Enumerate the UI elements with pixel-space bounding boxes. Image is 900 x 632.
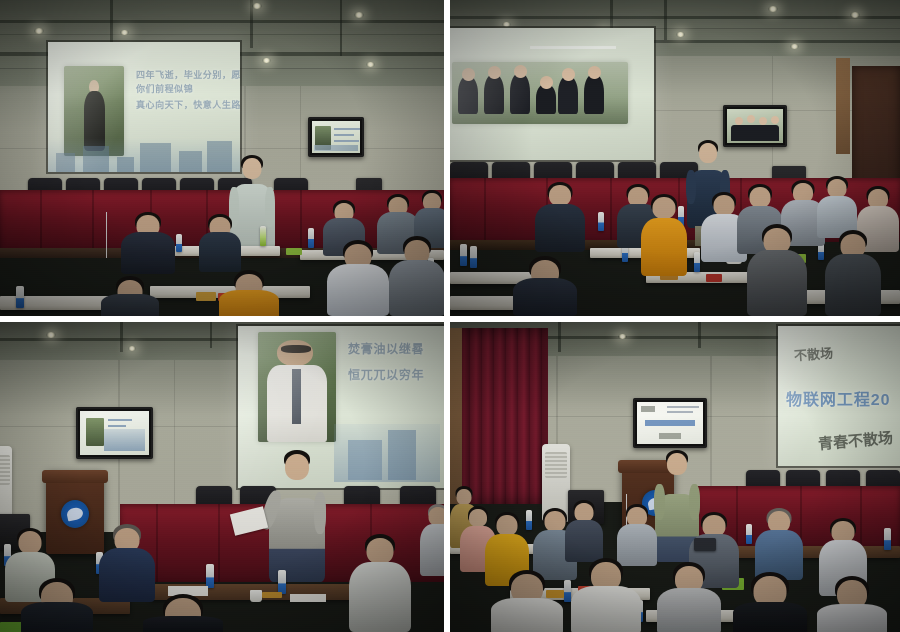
audience-member (534, 182, 586, 252)
slide-group-photo (452, 62, 628, 124)
ceiling-light (618, 334, 627, 339)
ceiling-light (850, 12, 860, 18)
panel-bottom-right: 不散场 物联网工程20 青春不散场 (450, 322, 900, 632)
document-sheet (290, 594, 326, 602)
water-bottle (278, 570, 286, 594)
ceiling-light (366, 62, 375, 67)
slide-skyline (48, 138, 240, 172)
ceiling-light (676, 32, 685, 37)
ceiling-light (790, 44, 799, 49)
slide-calligraphy-top: 不散场 (793, 343, 833, 365)
audience-member (816, 576, 888, 632)
ceiling-light (46, 332, 56, 338)
photo-collage: 四年飞逝，毕业分别，愿 你们前程似锦 真心向天下，快意人生路 (0, 0, 900, 632)
audience-member (198, 214, 242, 272)
slide-line-1: 焚膏油以继晷 (348, 340, 424, 357)
water-bottle (308, 228, 314, 248)
audience-member (616, 504, 658, 566)
audience-member (218, 270, 280, 316)
slide-headline: 物联网工程20 (786, 386, 891, 410)
water-bottle (260, 226, 266, 246)
snack-item (706, 274, 722, 282)
ceiling-light (354, 12, 364, 18)
audience-member (120, 212, 176, 274)
snack-item (196, 292, 216, 301)
slide-portrait (258, 332, 336, 442)
audience-member (656, 562, 722, 632)
projection-screen: 四年飞逝，毕业分别，愿 你们前程似锦 真心向天下，快意人生路 (48, 42, 240, 172)
snack-item (286, 248, 302, 255)
water-bottle (470, 246, 477, 268)
snack-item (0, 622, 22, 632)
wood-wall-panel (836, 58, 850, 154)
audience-member (326, 240, 390, 316)
water-bottle (176, 234, 182, 252)
ceiling-light (502, 22, 511, 27)
ceiling-light (34, 28, 44, 34)
ceiling-light (120, 30, 129, 35)
audience-member (564, 500, 604, 562)
audience-member (100, 276, 160, 316)
water-bottle (16, 286, 24, 308)
slide-photo (64, 66, 124, 156)
ceiling-light (128, 346, 136, 351)
audience-member (732, 572, 808, 632)
projection-screen: 不散场 物联网工程20 青春不散场 (778, 326, 900, 466)
slide-line-1: 四年飞逝，毕业分别，愿 (136, 68, 240, 81)
wall-monitor (633, 398, 707, 448)
audience-table (722, 546, 900, 558)
projection-screen (450, 28, 654, 160)
wall-monitor (723, 105, 787, 147)
audience-member (142, 594, 224, 632)
audience-member (570, 558, 642, 632)
ceiling-light (252, 3, 262, 9)
audience-member (98, 524, 156, 602)
audience-member (746, 224, 808, 316)
water-bottle (598, 212, 604, 231)
audience-member (490, 570, 564, 632)
paper-cup (250, 590, 262, 602)
audience-member (640, 194, 688, 276)
wall-monitor (308, 117, 364, 157)
slide-line-2: 你们前程似锦 (136, 82, 193, 95)
water-bottle (206, 564, 214, 588)
ceiling-light (768, 6, 778, 12)
panel-top-right (450, 0, 900, 316)
audience-member (754, 508, 804, 580)
panel-top-left: 四年飞逝，毕业分别，愿 你们前程似锦 真心向天下，快意人生路 (0, 0, 444, 316)
audience-member (420, 504, 444, 576)
phone-camera (694, 538, 716, 551)
panel-bottom-left: 焚膏油以继晷 恒兀兀以穷年 (0, 322, 444, 632)
audience-member (20, 578, 94, 632)
ceiling-light (262, 58, 271, 63)
presenter (268, 450, 326, 582)
water-bottle (746, 524, 752, 544)
slide-line-3: 真心向天下，快意人生路 (136, 98, 240, 111)
slide-calligraphy-bottom: 青春不散场 (817, 427, 894, 454)
slide-line-2: 恒兀兀以穷年 (348, 366, 424, 383)
mic-stand (106, 212, 107, 258)
water-bottle (460, 244, 467, 266)
audience-member (816, 176, 858, 238)
snack-item (262, 592, 282, 598)
audience-member (388, 236, 444, 316)
water-bottle (884, 528, 891, 550)
audience-member (824, 230, 882, 316)
audience-member (512, 256, 578, 316)
wall-monitor (76, 407, 153, 459)
audience-member (348, 534, 412, 632)
